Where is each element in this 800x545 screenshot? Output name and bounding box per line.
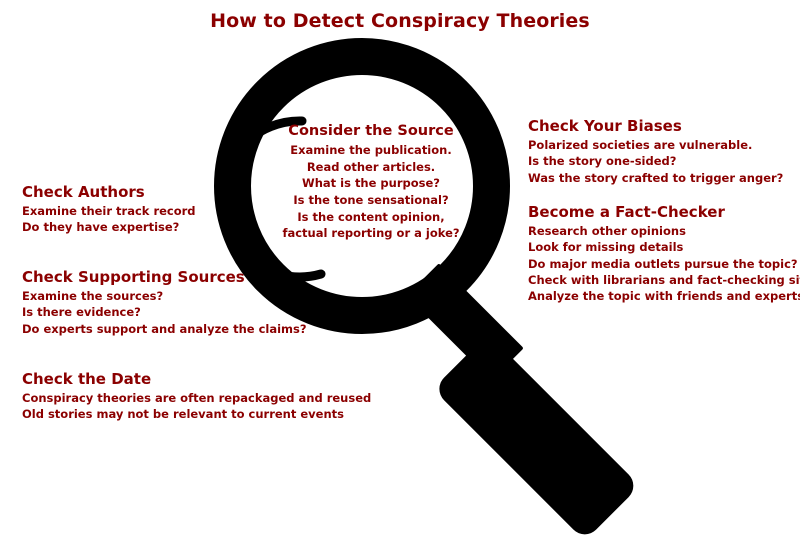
section-check-authors: Check Authors Examine their track record…: [22, 183, 196, 236]
lens-line: Is the tone sensational?: [282, 192, 460, 209]
section-heading: Check Authors: [22, 183, 196, 201]
lens-heading: Consider the Source: [282, 122, 460, 140]
lens-line: Is the content opinion,: [282, 209, 460, 226]
section-heading: Check Supporting Sources: [22, 268, 307, 286]
section-line: Do they have expertise?: [22, 219, 196, 235]
lens-content: Consider the Source Examine the publicat…: [282, 122, 460, 242]
section-line: Is there evidence?: [22, 304, 307, 320]
section-line: Polarized societies are vulnerable.: [528, 137, 783, 153]
section-line: Old stories may not be relevant to curre…: [22, 406, 371, 422]
section-heading: Check Your Biases: [528, 117, 783, 135]
section-heading: Become a Fact-Checker: [528, 203, 800, 221]
lens-line: factual reporting or a joke?: [282, 225, 460, 242]
section-line: Research other opinions: [528, 223, 800, 239]
lens-line: Examine the publication.: [282, 142, 460, 159]
section-line: Was the story crafted to trigger anger?: [528, 170, 783, 186]
section-line: Is the story one-sided?: [528, 153, 783, 169]
section-check-the-date: Check the Date Conspiracy theories are o…: [22, 370, 371, 423]
section-become-a-fact-checker: Become a Fact-Checker Research other opi…: [528, 203, 800, 305]
section-line: Do major media outlets pursue the topic?: [528, 256, 800, 272]
section-line: Do experts support and analyze the claim…: [22, 321, 307, 337]
section-line: Examine the sources?: [22, 288, 307, 304]
page-title: How to Detect Conspiracy Theories: [0, 10, 800, 32]
magnifier-handle: [406, 263, 640, 541]
section-line: Examine their track record: [22, 203, 196, 219]
lens-line: Read other articles.: [282, 159, 460, 176]
section-check-your-biases: Check Your Biases Polarized societies ar…: [528, 117, 783, 186]
section-heading: Check the Date: [22, 370, 371, 388]
infographic-canvas: How to Detect Conspiracy Theories Consid…: [0, 0, 800, 545]
section-check-supporting-sources: Check Supporting Sources Examine the sou…: [22, 268, 307, 337]
section-line: Analyze the topic with friends and exper…: [528, 288, 800, 304]
section-line: Look for missing details: [528, 239, 800, 255]
lens-line: What is the purpose?: [282, 175, 460, 192]
section-line: Conspiracy theories are often repackaged…: [22, 390, 371, 406]
section-line: Check with librarians and fact-checking …: [528, 272, 800, 288]
